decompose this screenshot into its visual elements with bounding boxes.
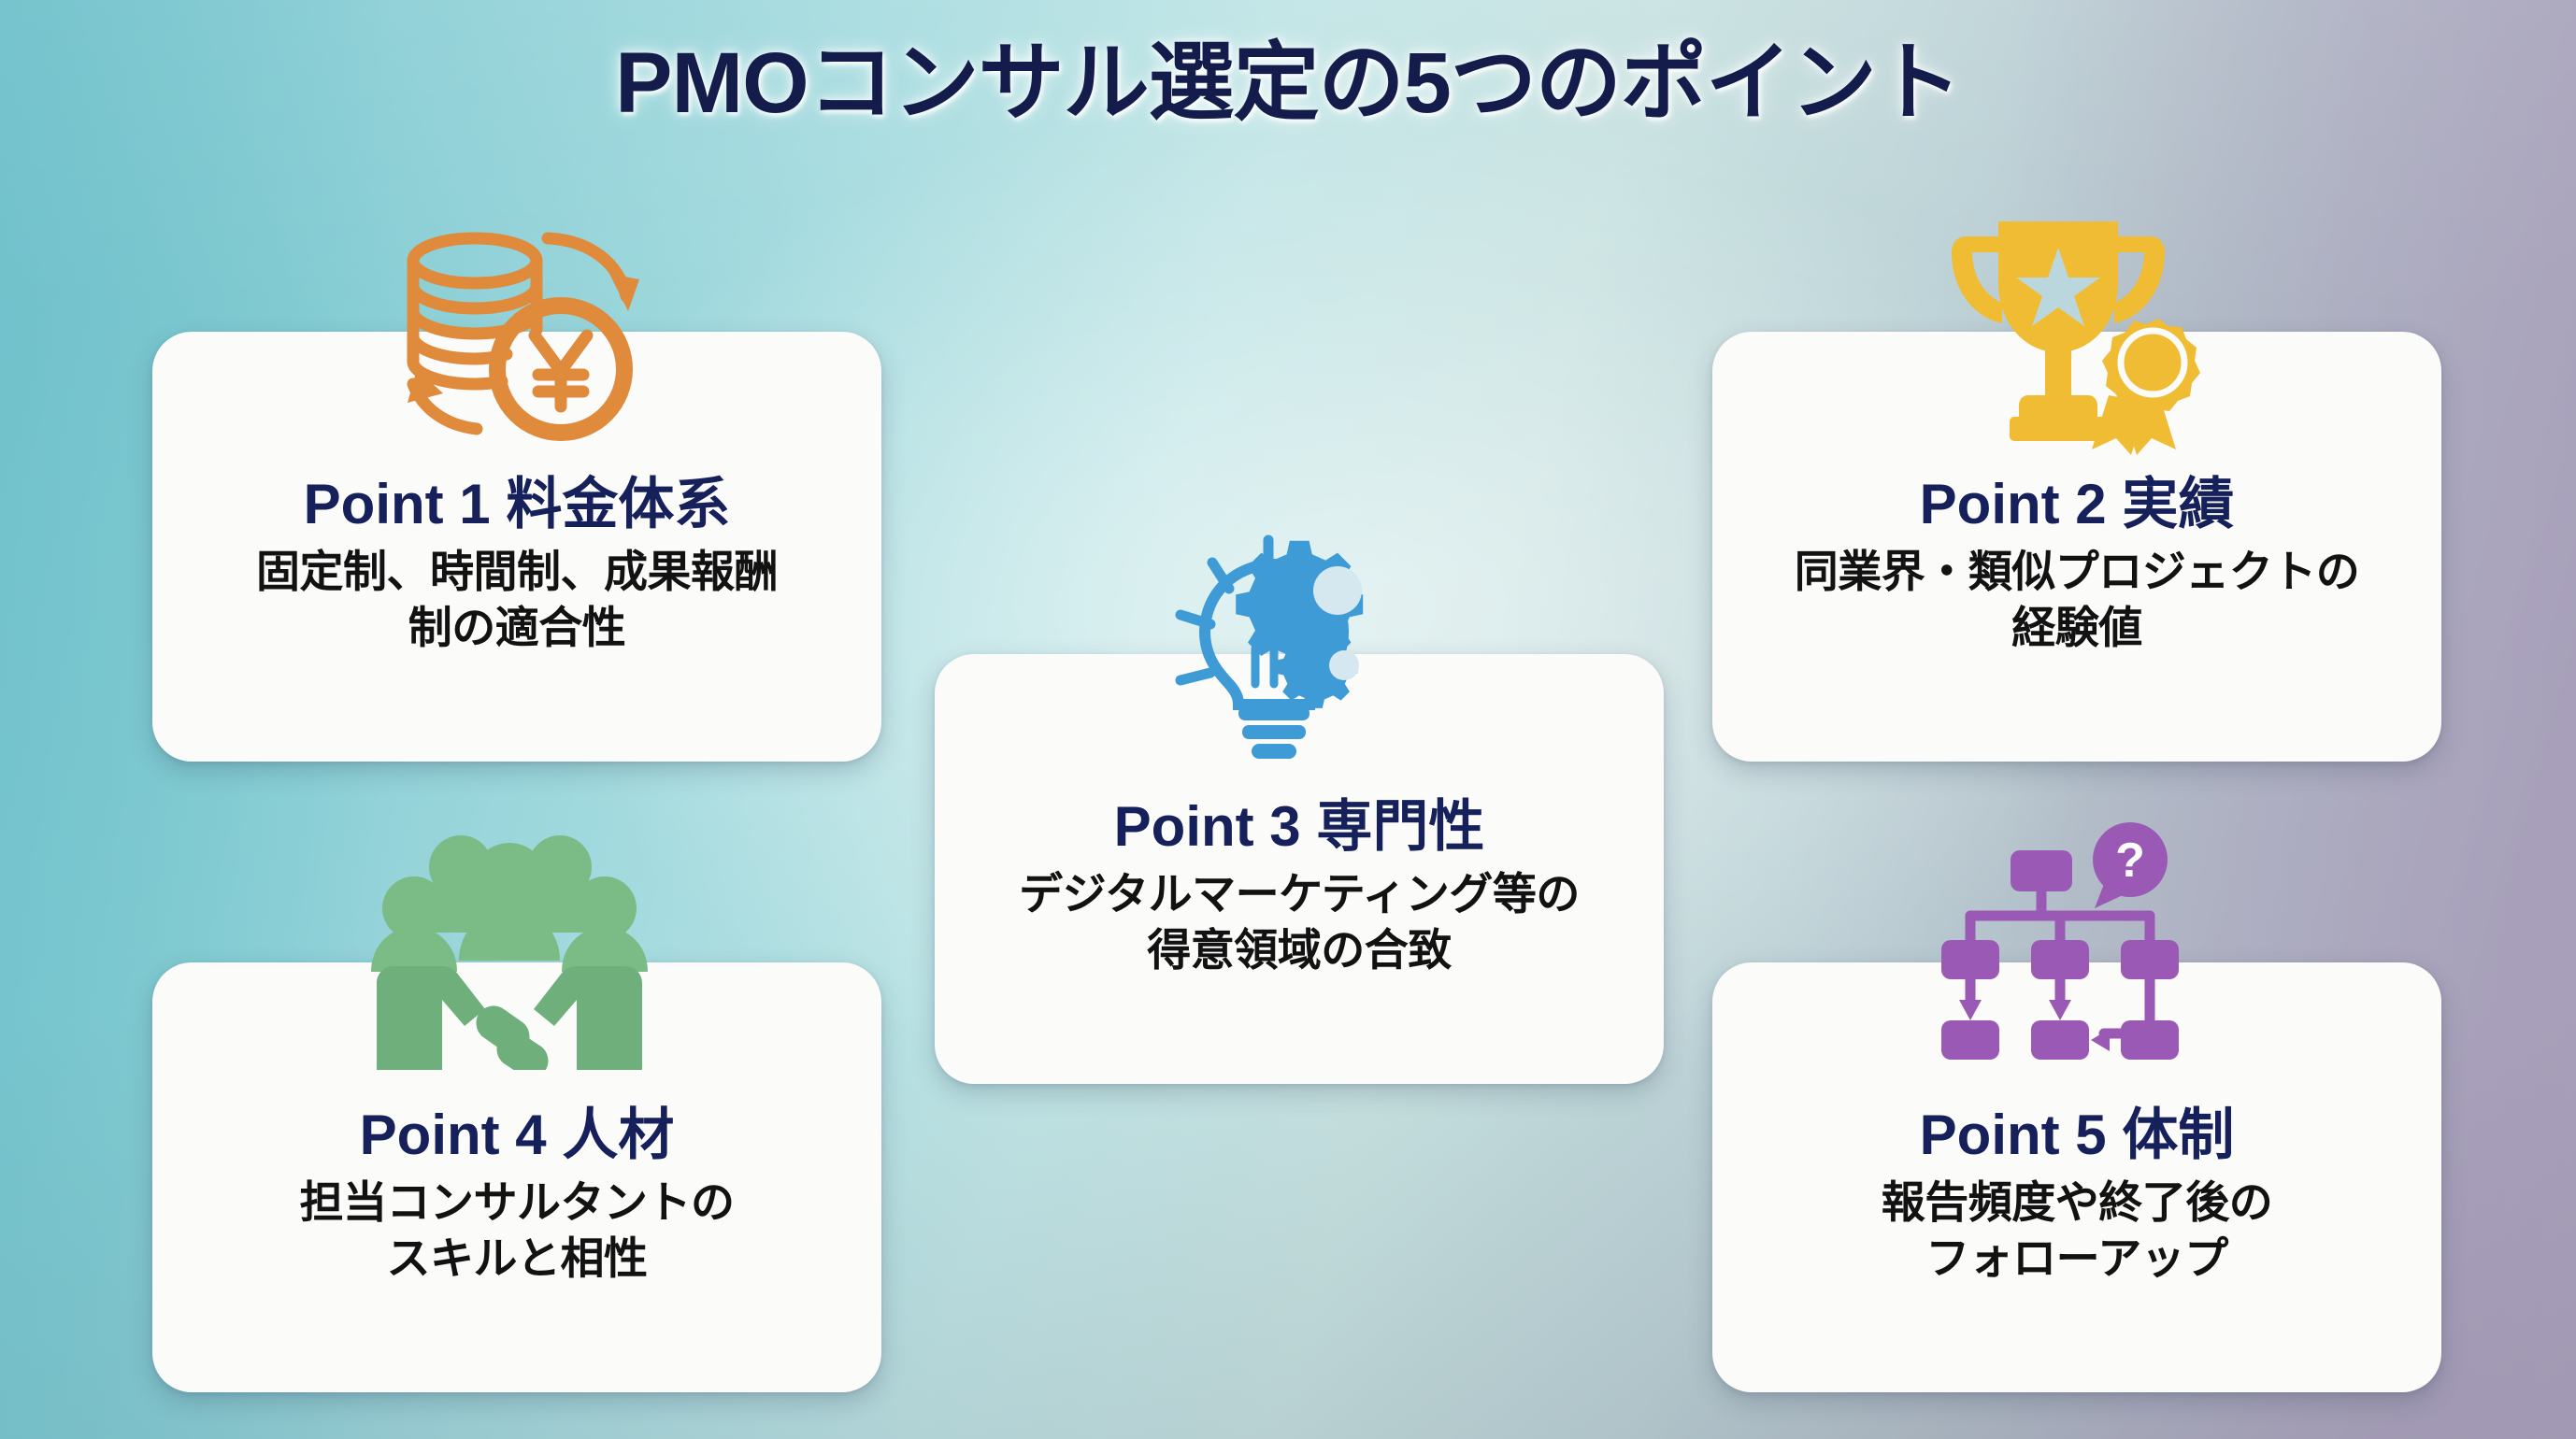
card-heading-point-5: Point 5 体制	[1920, 1103, 2235, 1169]
card-point-4: Point 4 人材 担当コンサルタントの スキルと相性	[152, 962, 881, 1392]
page-title: PMOコンサル選定の5つのポイント	[0, 13, 2576, 137]
card-body-point-2: 同業界・類似プロジェクトの 経験値	[1795, 544, 2360, 656]
card-heading-point-2: Point 2 実績	[1920, 472, 2235, 538]
card-heading-point-3: Point 3 専門性	[1114, 794, 1485, 861]
card-body-line-2: 得意領域の合致	[1019, 922, 1580, 978]
card-point-3: Point 3 専門性 デジタルマーケティング等の 得意領域の合致	[935, 654, 1664, 1084]
card-body-line-2: 経験値	[1795, 600, 2360, 656]
card-body-line-1: 報告頻度や終了後の	[1882, 1175, 2273, 1231]
card-heading-point-4: Point 4 人材	[360, 1103, 675, 1169]
card-body-point-4: 担当コンサルタントの スキルと相性	[300, 1175, 735, 1287]
card-heading-point-1: Point 1 料金体系	[304, 472, 731, 538]
card-body-line-1: デジタルマーケティング等の	[1019, 866, 1580, 922]
card-body-point-1: 固定制、時間制、成果報酬 制の適合性	[256, 544, 778, 656]
card-body-line-2: スキルと相性	[300, 1231, 735, 1287]
card-body-point-5: 報告頻度や終了後の フォローアップ	[1882, 1175, 2273, 1287]
card-body-line-2: 制の適合性	[256, 600, 778, 656]
card-body-line-1: 担当コンサルタントの	[300, 1175, 735, 1231]
card-point-5: Point 5 体制 報告頻度や終了後の フォローアップ	[1712, 962, 2441, 1392]
card-body-point-3: デジタルマーケティング等の 得意領域の合致	[1019, 866, 1580, 978]
card-point-1: Point 1 料金体系 固定制、時間制、成果報酬 制の適合性	[152, 332, 881, 762]
card-body-line-1: 同業界・類似プロジェクトの	[1795, 544, 2360, 600]
card-point-2: Point 2 実績 同業界・類似プロジェクトの 経験値	[1712, 332, 2441, 762]
card-body-line-2: フォローアップ	[1882, 1231, 2273, 1287]
card-body-line-1: 固定制、時間制、成果報酬	[256, 544, 778, 600]
svg-text:?: ?	[2115, 833, 2145, 888]
